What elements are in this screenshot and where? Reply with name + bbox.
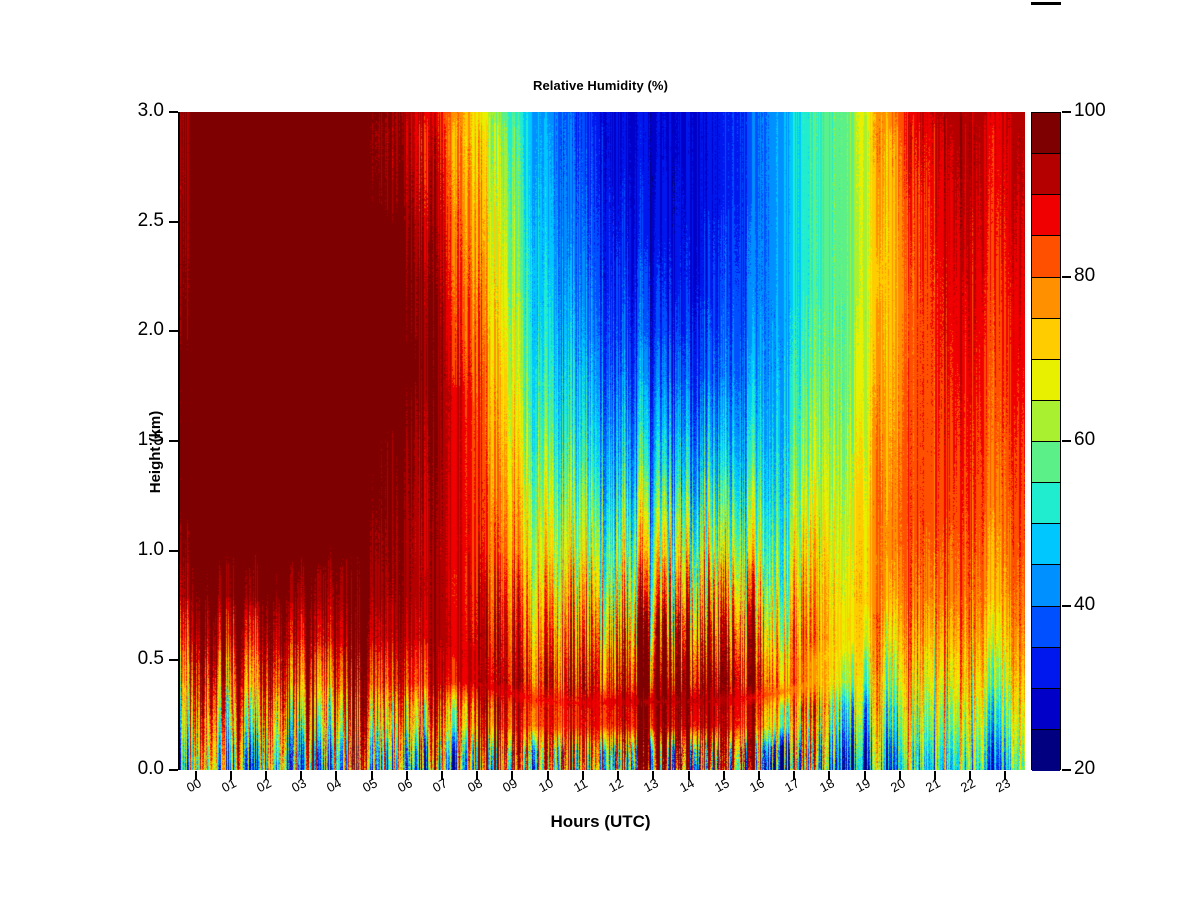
colorbar-tick-label: 60 [1074,429,1095,451]
x-tick-label: 05 [360,775,380,795]
x-tick-label: 08 [465,775,485,795]
x-axis-title: Hours (UTC) [178,812,1023,832]
y-tick-mark [169,659,178,661]
colorbar-block [1032,401,1060,442]
x-tick-label: 14 [677,775,697,795]
x-tick-label: 04 [324,775,344,795]
heatmap-canvas [180,112,1025,770]
colorbar-block [1032,236,1060,277]
y-tick-label: 0.5 [138,648,164,670]
colorbar-block [1032,648,1060,689]
y-tick-mark [169,550,178,552]
x-tick-label: 00 [184,775,204,795]
y-tick-mark [169,440,178,442]
y-axis-title: Height (km) [147,352,169,552]
colorbar-tick-label: 80 [1074,265,1095,287]
y-tick-mark [169,111,178,113]
y-tick-label: 3.0 [138,100,164,122]
colorbar-block [1032,195,1060,236]
colorbar-block [1032,278,1060,319]
colorbar-tick-mark [1062,769,1071,771]
colorbar-block [1032,524,1060,565]
x-tick-label: 19 [853,775,873,795]
colorbar-block [1032,607,1060,648]
colorbar-block [1032,442,1060,483]
x-tick-label: 13 [641,775,661,795]
colorbar-block [1032,154,1060,195]
colorbar-block [1032,319,1060,360]
colorbar-tick-mark [1062,276,1071,278]
y-tick-label: 2.5 [138,210,164,232]
x-tick-label: 03 [289,775,309,795]
page-title: Relative Humidity (%) [178,78,1023,93]
x-tick-label: 02 [254,775,274,795]
x-tick-label: 11 [571,776,590,796]
x-tick-label: 22 [958,775,978,795]
x-tick-label: 10 [536,775,556,795]
colorbar [1031,112,1061,770]
colorbar-block [1032,730,1060,771]
x-tick-label: 18 [817,775,837,795]
y-tick-label: 0.0 [138,758,164,780]
colorbar-block [1032,483,1060,524]
colorbar-outline-artifact [1031,2,1061,5]
colorbar-tick-label: 100 [1074,100,1106,122]
x-tick-label: 15 [712,775,732,795]
heatmap-plot-area [178,112,1023,770]
colorbar-tick-mark [1062,440,1071,442]
colorbar-block [1032,113,1060,154]
figure-canvas: Relative Humidity (%) 0.00.51.01.52.02.5… [0,0,1200,900]
x-tick-label: 16 [747,775,767,795]
colorbar-tick-label: 40 [1074,594,1095,616]
x-tick-label: 21 [923,775,943,795]
y-tick-mark [169,221,178,223]
y-tick-mark [169,330,178,332]
y-tick-label: 2.0 [138,319,164,341]
colorbar-tick-mark [1062,111,1071,113]
x-tick-label: 09 [500,775,520,795]
x-tick-label: 06 [395,775,415,795]
x-tick-label: 07 [430,775,450,795]
x-tick-label: 23 [993,775,1013,795]
colorbar-block [1032,565,1060,606]
y-tick-mark [169,769,178,771]
x-tick-label: 12 [606,775,626,795]
colorbar-tick-mark [1062,605,1071,607]
colorbar-block [1032,360,1060,401]
colorbar-block [1032,689,1060,730]
colorbar-tick-label: 20 [1074,758,1095,780]
x-tick-label: 20 [888,775,908,795]
x-tick-label: 17 [782,775,802,795]
x-tick-label: 01 [219,775,239,795]
